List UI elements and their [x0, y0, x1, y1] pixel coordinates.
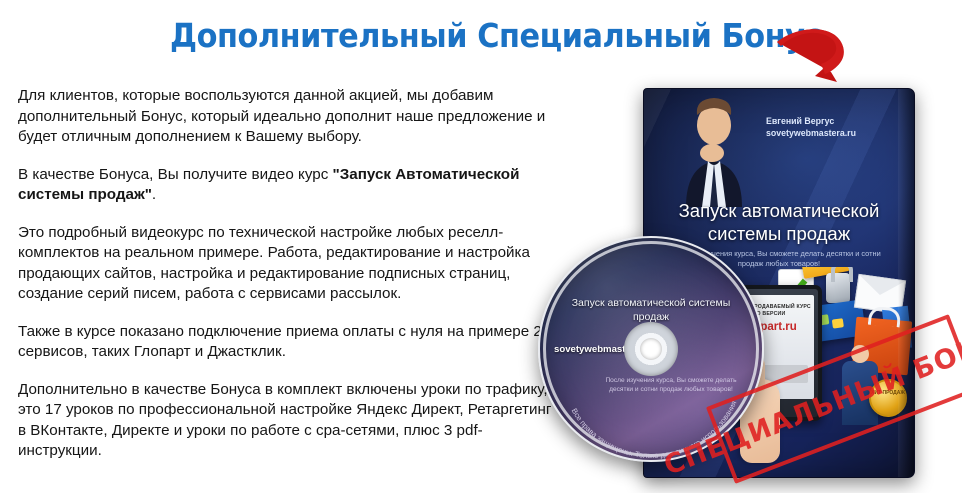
disc-hole	[640, 338, 662, 360]
paragraph-intro: Для клиентов, которые воспользуются данн…	[18, 86, 563, 148]
curved-arrow-down-icon	[775, 20, 870, 82]
author-photo	[664, 95, 760, 207]
header: Дополнительный Специальный Бонус	[0, 8, 962, 60]
paragraph-description: Это подробный видеокурс по технической н…	[18, 223, 563, 305]
bonus-lead: В качестве Бонуса, Вы получите видео кур…	[18, 166, 333, 183]
page-title: Дополнительный Специальный Бонус	[170, 16, 822, 55]
promo-banner: Дополнительный Специальный Бонус Для кли…	[0, 0, 962, 493]
padlock-icon	[826, 273, 850, 303]
author-credit: Евгений Вергус sovetywebmastera.ru	[766, 115, 911, 139]
author-site: sovetywebmastera.ru	[766, 127, 911, 139]
disc-hub	[624, 322, 678, 376]
bonus-tail: .	[152, 186, 156, 203]
product-artwork: Евгений Вергус sovetywebmastera.ru Запус…	[500, 78, 962, 486]
body-copy: Для клиентов, которые воспользуются данн…	[18, 86, 563, 462]
author-name: Евгений Вергус	[766, 115, 911, 127]
card-chip-secondary	[832, 318, 844, 328]
paragraph-payments: Также в курсе показано подключение прием…	[18, 322, 563, 363]
paragraph-bonus: В качестве Бонуса, Вы получите видео кур…	[18, 165, 563, 206]
paragraph-traffic: Дополнительно в качестве Бонуса в компле…	[18, 380, 563, 462]
